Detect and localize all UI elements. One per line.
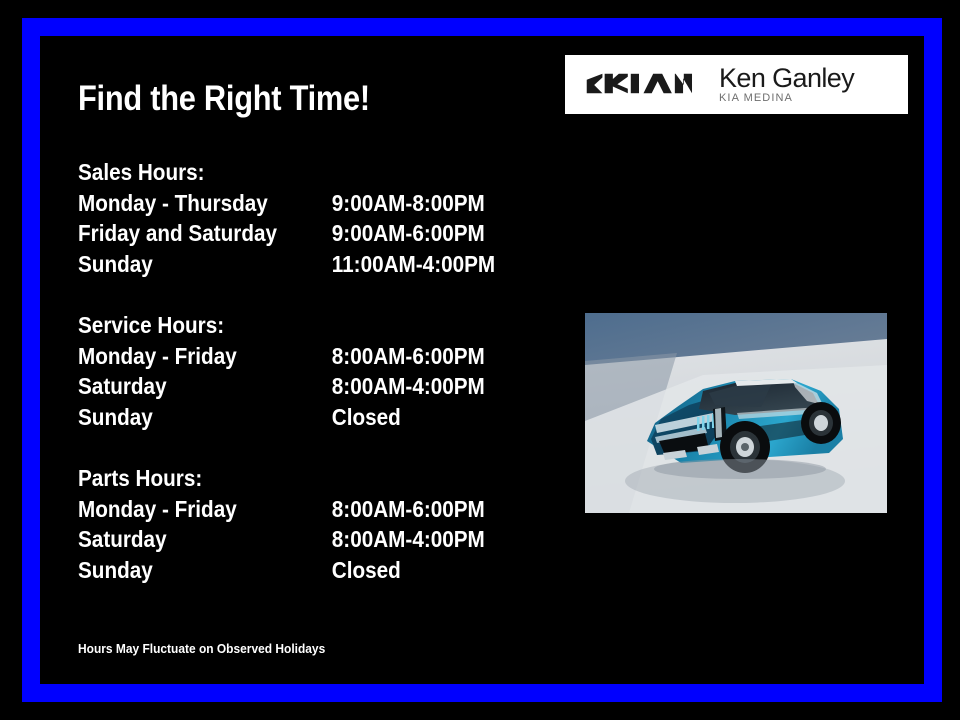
hours-row-time: 8:00AM-4:00PM	[332, 371, 501, 402]
hours-row: Sunday11:00AM-4:00PM	[78, 249, 501, 280]
hours-section: Sales Hours:Monday - Thursday9:00AM-8:00…	[78, 157, 548, 279]
hours-row: Monday - Friday8:00AM-6:00PM	[78, 341, 501, 372]
hours-row-days: Sunday	[78, 249, 332, 280]
hours-row-time: 9:00AM-8:00PM	[332, 188, 501, 219]
hours-row: Monday - Friday8:00AM-6:00PM	[78, 494, 501, 525]
dealer-name: Ken Ganley	[719, 64, 854, 92]
hours-row-time: 9:00AM-6:00PM	[332, 218, 501, 249]
hours-section: Service Hours:Monday - Friday8:00AM-6:00…	[78, 310, 548, 432]
page-title: Find the Right Time!	[78, 79, 370, 119]
hours-row-time: 11:00AM-4:00PM	[332, 249, 501, 280]
hours-row-days: Monday - Friday	[78, 341, 332, 372]
hours-row: SundayClosed	[78, 555, 501, 586]
hours-row-days: Monday - Friday	[78, 494, 332, 525]
dealer-logo-banner: Ken Ganley KIA MEDINA	[565, 55, 908, 114]
hours-row: Saturday8:00AM-4:00PM	[78, 371, 501, 402]
hours-row: SundayClosed	[78, 402, 501, 433]
kia-logo-icon	[583, 70, 695, 100]
hours-section-heading: Service Hours:	[78, 310, 501, 341]
hours-row: Monday - Thursday9:00AM-8:00PM	[78, 188, 501, 219]
hours-row-days: Monday - Thursday	[78, 188, 332, 219]
hours-row-days: Saturday	[78, 524, 332, 555]
hours-row-days: Friday and Saturday	[78, 218, 332, 249]
dealer-name-group: Ken Ganley KIA MEDINA	[719, 64, 854, 105]
hours-row-time: 8:00AM-6:00PM	[332, 494, 501, 525]
hours-row: Friday and Saturday9:00AM-6:00PM	[78, 218, 501, 249]
hours-row: Saturday8:00AM-4:00PM	[78, 524, 501, 555]
slide-canvas: Find the Right Time! Sales Hours:Monday …	[0, 0, 960, 720]
hours-row-time: 8:00AM-6:00PM	[332, 341, 501, 372]
vehicle-photo	[585, 313, 887, 513]
hours-section: Parts Hours:Monday - Friday8:00AM-6:00PM…	[78, 463, 548, 585]
hours-section-heading: Sales Hours:	[78, 157, 501, 188]
kia-ev9-illustration	[585, 313, 887, 513]
hours-row-time: Closed	[332, 402, 501, 433]
hours-row-days: Sunday	[78, 402, 332, 433]
hours-row-days: Sunday	[78, 555, 332, 586]
hours-list: Sales Hours:Monday - Thursday9:00AM-8:00…	[78, 157, 548, 585]
holiday-disclaimer: Hours May Fluctuate on Observed Holidays	[78, 641, 325, 656]
hours-section-heading: Parts Hours:	[78, 463, 501, 494]
hours-row-time: Closed	[332, 555, 501, 586]
hours-row-days: Saturday	[78, 371, 332, 402]
dealer-subtitle: KIA MEDINA	[719, 92, 854, 105]
hours-row-time: 8:00AM-4:00PM	[332, 524, 501, 555]
